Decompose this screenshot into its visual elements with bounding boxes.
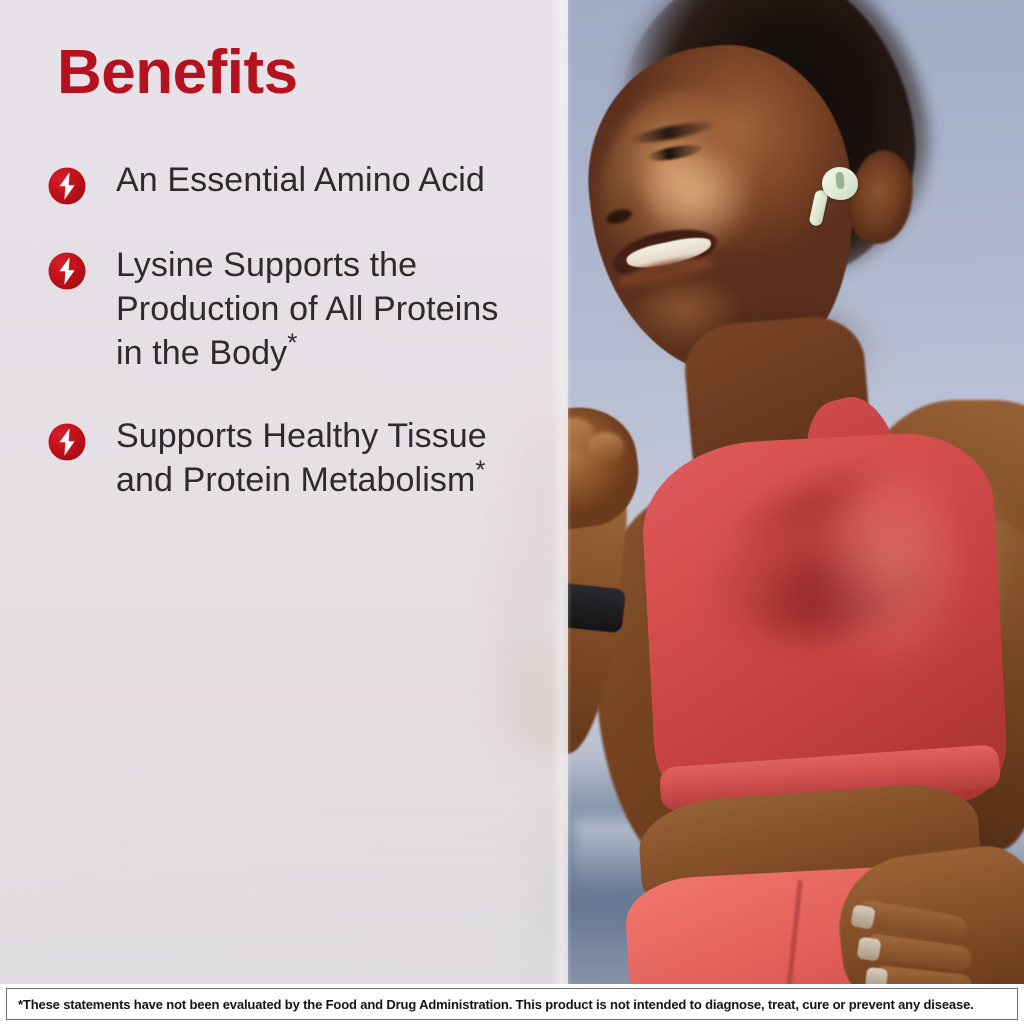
lightning-bolt-badge-icon bbox=[48, 167, 86, 205]
disclaimer-bar: *These statements have not been evaluate… bbox=[0, 984, 1024, 1024]
product-benefits-image: Benefits bbox=[0, 0, 1024, 1024]
list-item: Lysine Supports the Production of All Pr… bbox=[48, 243, 548, 376]
lightning-bolt-badge-icon bbox=[48, 252, 86, 290]
knuckle bbox=[588, 432, 624, 462]
list-item: Supports Healthy Tissue and Protein Meta… bbox=[48, 414, 548, 502]
list-item: An Essential Amino Acid bbox=[48, 158, 548, 205]
fabric-highlight bbox=[820, 470, 990, 700]
footnote-asterisk: * bbox=[287, 328, 297, 358]
list-item-label: Supports Healthy Tissue and Protein Meta… bbox=[116, 414, 516, 502]
fda-disclaimer-text: *These statements have not been evaluate… bbox=[6, 988, 1018, 1020]
earbud-speaker-grille bbox=[835, 172, 845, 190]
fingernail bbox=[857, 937, 882, 962]
benefits-list: An Essential Amino Acid bbox=[48, 158, 548, 502]
benefits-content: Benefits bbox=[0, 0, 568, 1024]
footnote-asterisk: * bbox=[475, 454, 485, 484]
fingernail bbox=[850, 904, 875, 929]
lightning-bolt-badge-icon bbox=[48, 423, 86, 461]
list-item-label: Lysine Supports the Production of All Pr… bbox=[116, 243, 516, 376]
page-title: Benefits bbox=[57, 40, 298, 105]
list-item-label: An Essential Amino Acid bbox=[116, 158, 485, 202]
